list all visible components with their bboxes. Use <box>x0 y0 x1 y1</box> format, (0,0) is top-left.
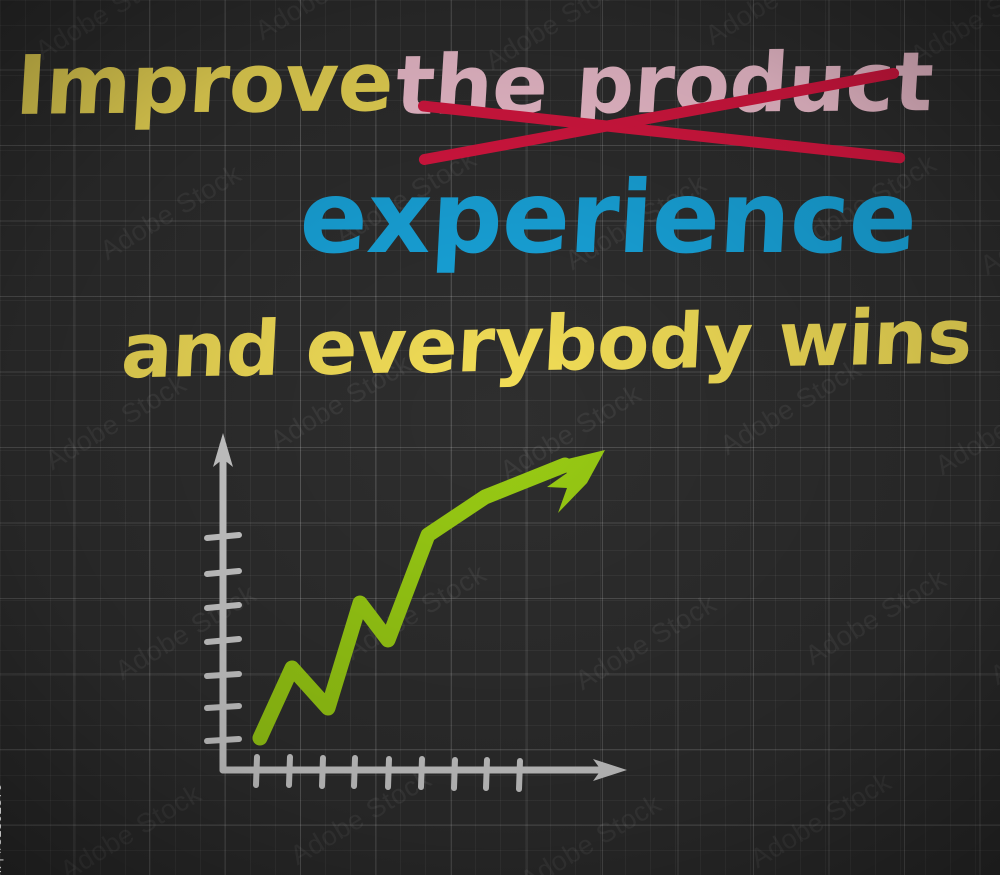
growth-arrowhead <box>547 450 605 513</box>
poster-canvas: Adobe StockAdobe StockAdobe StockAdobe S… <box>0 0 1000 875</box>
growth-line-series <box>260 465 565 738</box>
growth-line-chart <box>195 425 655 805</box>
